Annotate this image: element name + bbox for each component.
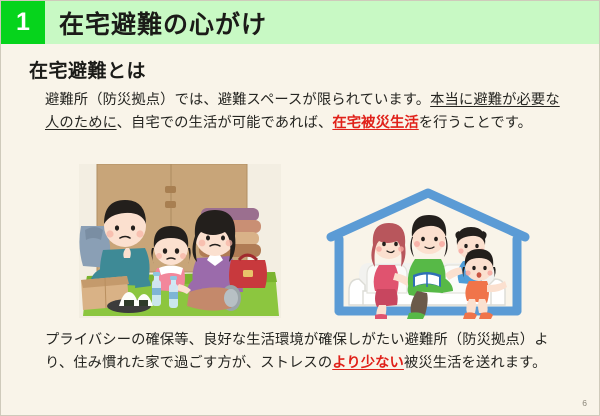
illustration-family-at-evacuation-shelter — [79, 164, 281, 318]
page-number: 6 — [582, 398, 587, 408]
para-bottom-highlight-yori-sukunai: より少ない — [332, 355, 404, 371]
section-subtitle: 在宅避難とは — [29, 56, 146, 83]
paragraph-top: 避難所（防災拠点）では、避難スペースが限られています。本当に避難が必要な人のため… — [45, 89, 565, 135]
para-top-segment-5: を行うことです。 — [419, 115, 532, 131]
section-number-badge: 1 — [1, 1, 45, 44]
paragraph-bottom: プライバシーの確保等、良好な生活環境が確保しがたい避難所（防災拠点）より、住み慣… — [45, 329, 565, 375]
para-top-segment-1: 避難所（防災拠点）では、避難スペースが限られています。 — [45, 92, 430, 108]
page-title: 在宅避難の心がけ — [59, 5, 267, 41]
para-top-highlight-zaitaku-hisai-seikatsu: 在宅被災生活 — [332, 115, 418, 131]
slide-root: 1 在宅避難の心がけ 在宅避難とは 避難所（防災拠点）では、避難スペースが限られ… — [0, 0, 600, 416]
para-bottom-segment-3: 被災生活を送れます。 — [404, 355, 547, 371]
illustration-family-relaxing-at-home — [317, 187, 539, 319]
slide-header: 1 在宅避難の心がけ — [1, 1, 600, 44]
para-top-segment-3: 、自宅での生活が可能であれば、 — [117, 115, 333, 131]
